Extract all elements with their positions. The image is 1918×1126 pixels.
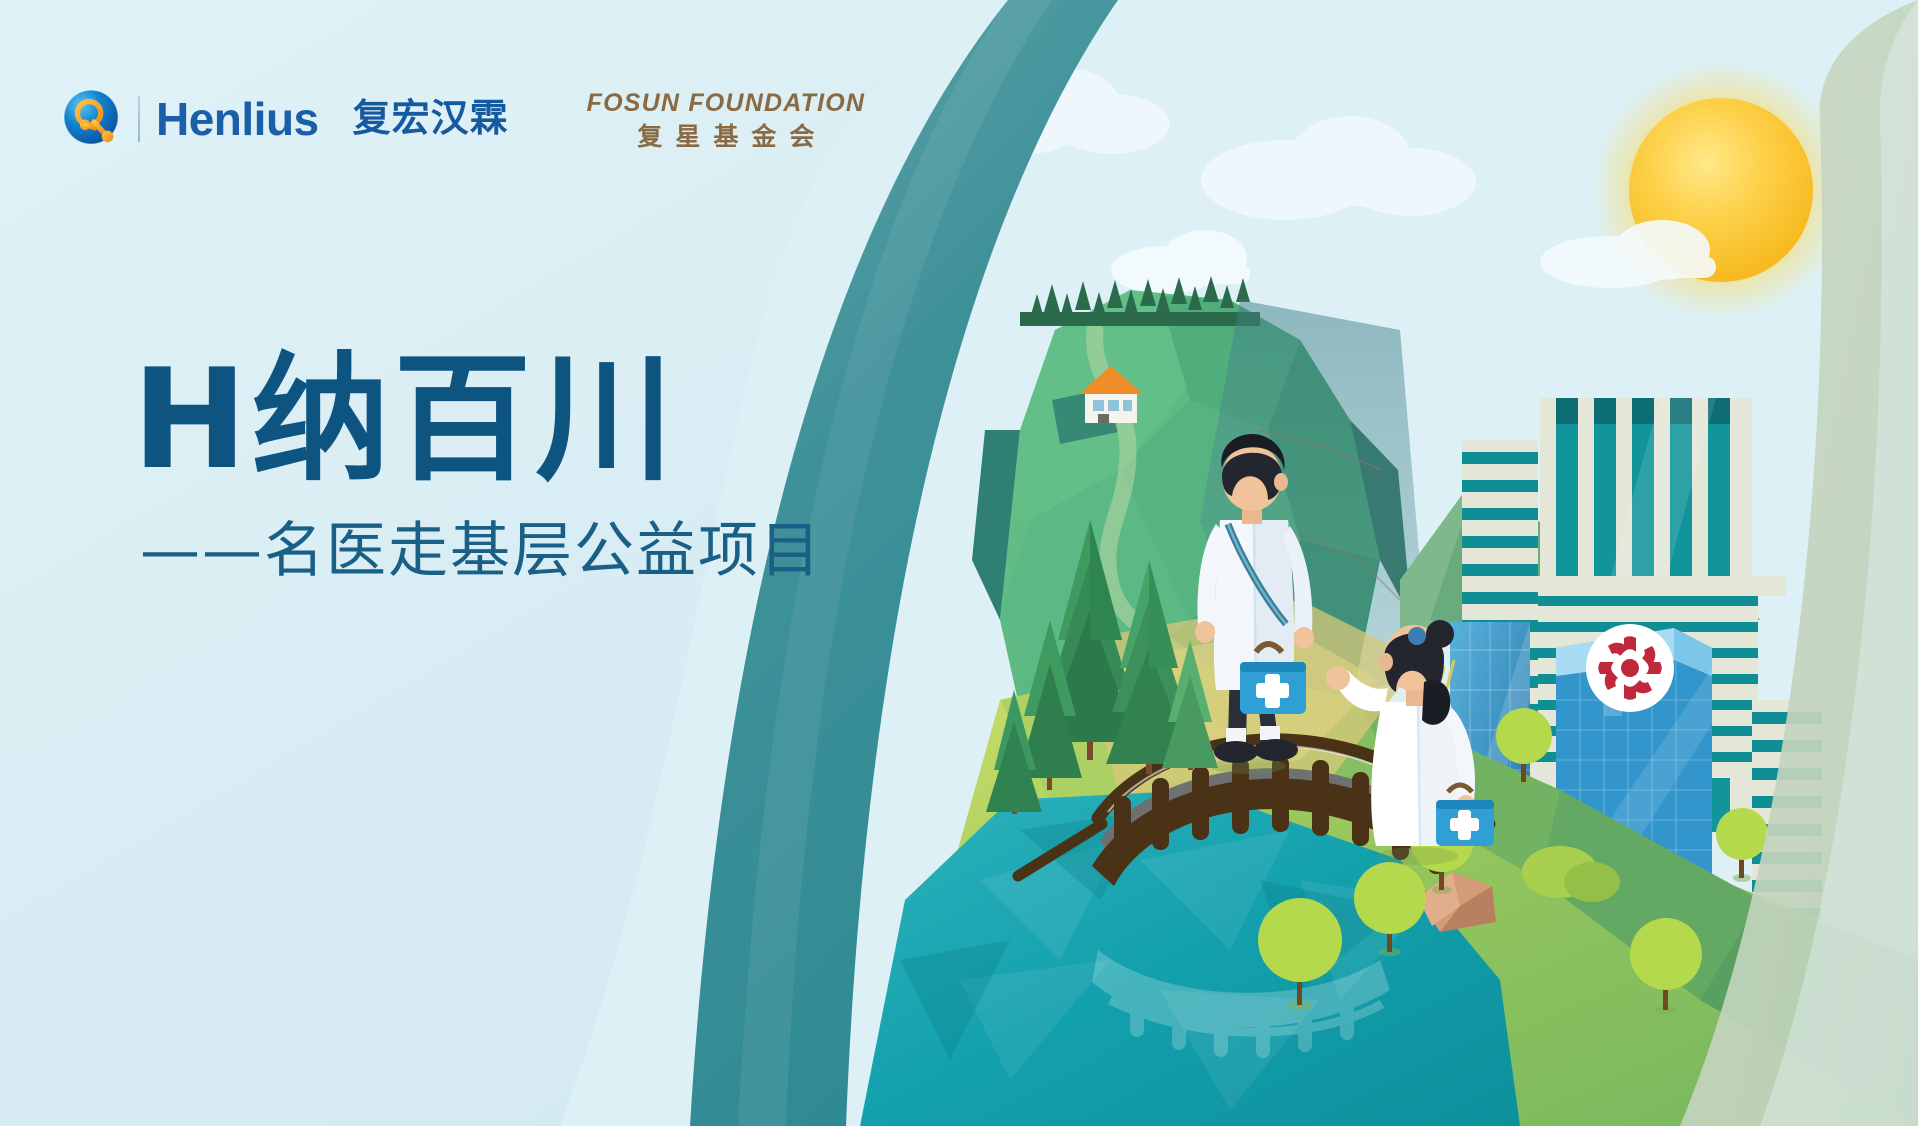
chinese-hospital-cross-emblem bbox=[1586, 624, 1674, 712]
henlius-chinese-name: 复宏汉霖 bbox=[353, 96, 509, 142]
headline-block: H纳百川 ——名医走基层公益项目 bbox=[132, 348, 822, 587]
henlius-wordmark: Henlius bbox=[156, 96, 319, 142]
page-subtitle: ——名医走基层公益项目 bbox=[140, 515, 822, 587]
logo-bar: Henlius 复宏汉霖 FOSUN FOUNDATION 复星基金会 bbox=[62, 88, 865, 150]
fosun-foundation-logo[interactable]: FOSUN FOUNDATION 复星基金会 bbox=[587, 90, 865, 150]
fosun-english-name: FOSUN FOUNDATION bbox=[587, 90, 865, 118]
logo-divider bbox=[138, 96, 140, 142]
poster-canvas: Henlius 复宏汉霖 FOSUN FOUNDATION 复星基金会 H纳百川… bbox=[0, 0, 1918, 1126]
henlius-molecule-logo-icon bbox=[62, 88, 124, 150]
henlius-logo[interactable]: Henlius 复宏汉霖 bbox=[62, 88, 509, 150]
fosun-chinese-name: 复星基金会 bbox=[624, 123, 827, 151]
page-title: H纳百川 bbox=[132, 348, 822, 493]
